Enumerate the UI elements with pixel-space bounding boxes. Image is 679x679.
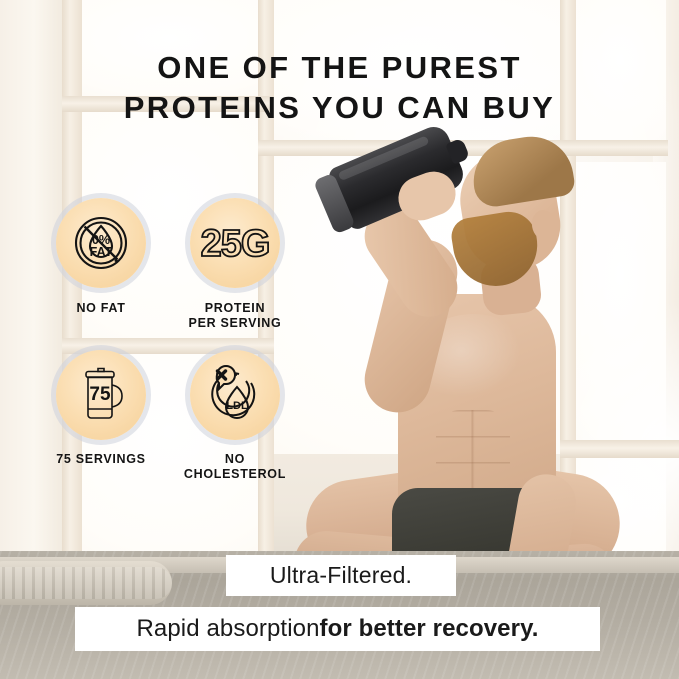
ldl-label-text: LDL: [226, 400, 248, 412]
feature-caption: NO CHOLESTEROL: [184, 452, 286, 483]
recovery-text-bold: for better recovery.: [320, 615, 539, 643]
feature-caption: PROTEIN PER SERVING: [189, 301, 282, 332]
ultra-filtered-text: Ultra-Filtered.: [270, 562, 412, 589]
servings-count-text: 75: [89, 384, 111, 405]
feature-no-fat: 0% FAT NO FAT: [34, 198, 168, 332]
headline-line-1: ONE OF THE PUREST: [0, 48, 679, 88]
protein-grams-text: 25G: [201, 223, 270, 265]
ultra-filtered-banner: Ultra-Filtered.: [226, 555, 456, 596]
no-fat-badge: 0% FAT: [56, 198, 146, 288]
cholesterol-badge: LDL: [190, 350, 280, 440]
page-title: ONE OF THE PUREST PROTEINS YOU CAN BUY: [0, 48, 679, 129]
rolled-yoga-mat: [0, 561, 172, 605]
feature-badge-grid: 0% FAT NO FAT 25G PROTEIN PER SERVING: [34, 198, 302, 482]
feature-caption: NO FAT: [76, 301, 125, 316]
protein-grams-icon: 25G: [198, 220, 272, 266]
no-cholesterol-ldl-icon: LDL: [203, 363, 267, 427]
feature-row-1: 0% FAT NO FAT 25G PROTEIN PER SERVING: [34, 198, 302, 332]
recovery-banner: Rapid absorption for better recovery.: [75, 607, 600, 651]
shaker-cup-icon: 75: [69, 363, 133, 427]
headline-line-2: PROTEINS YOU CAN BUY: [0, 88, 679, 128]
feature-no-cholesterol: LDL NO CHOLESTEROL: [168, 350, 302, 483]
feature-row-2: 75 75 SERVINGS: [34, 332, 302, 483]
recovery-text-light: Rapid absorption: [136, 615, 319, 643]
no-fat-label-text: FAT: [90, 245, 113, 259]
no-fat-droplet-icon: 0% FAT: [70, 212, 132, 274]
feature-servings: 75 75 SERVINGS: [34, 350, 168, 483]
product-marketing-poster: ONE OF THE PUREST PROTEINS YOU CAN BUY 0…: [0, 0, 679, 679]
protein-badge: 25G: [190, 198, 280, 288]
servings-badge: 75: [56, 350, 146, 440]
hair: [468, 131, 577, 210]
feature-caption: 75 SERVINGS: [56, 452, 145, 467]
feature-protein-per-serving: 25G PROTEIN PER SERVING: [168, 198, 302, 332]
